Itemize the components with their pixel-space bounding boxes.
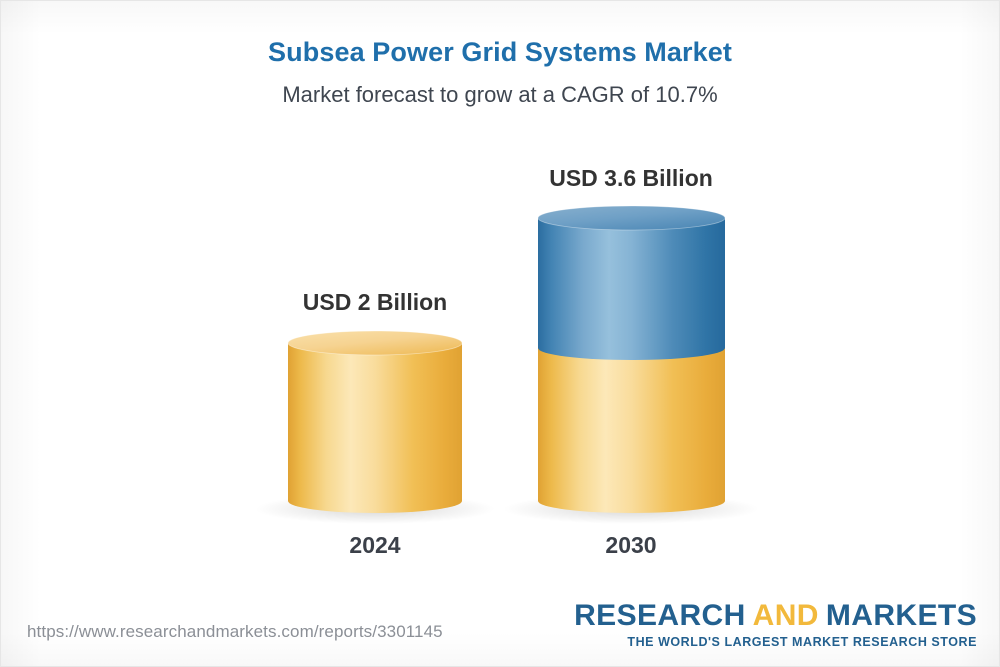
bar-2024[interactable] <box>288 331 462 513</box>
bar-2030-yellow-segment <box>538 348 725 513</box>
value-label-2024: USD 2 Billion <box>275 289 475 316</box>
year-label-2030: 2030 <box>531 532 731 559</box>
bar-2030[interactable] <box>538 206 725 513</box>
value-label-2030: USD 3.6 Billion <box>521 165 741 192</box>
logo-markets-text: MARKETS <box>826 599 977 632</box>
logo-and-text: AND <box>753 599 819 632</box>
bar-2030-blue-segment <box>538 218 725 360</box>
chart-card: Subsea Power Grid Systems Market Market … <box>0 0 1000 667</box>
logo-wordmark: RESEARCHANDMARKETS <box>574 601 977 631</box>
cylinder-bars-svg <box>1 1 1000 667</box>
year-label-2024: 2024 <box>275 532 475 559</box>
report-url-link[interactable]: https://www.researchandmarkets.com/repor… <box>27 622 443 642</box>
logo-tagline: THE WORLD'S LARGEST MARKET RESEARCH STOR… <box>574 636 977 649</box>
plot-area: USD 2 Billion USD 3.6 Billion 2024 2030 <box>1 1 1000 667</box>
bar-2024-body <box>288 343 462 513</box>
logo-research-text: RESEARCH <box>574 599 746 632</box>
research-and-markets-logo[interactable]: RESEARCHANDMARKETS THE WORLD'S LARGEST M… <box>574 601 977 649</box>
